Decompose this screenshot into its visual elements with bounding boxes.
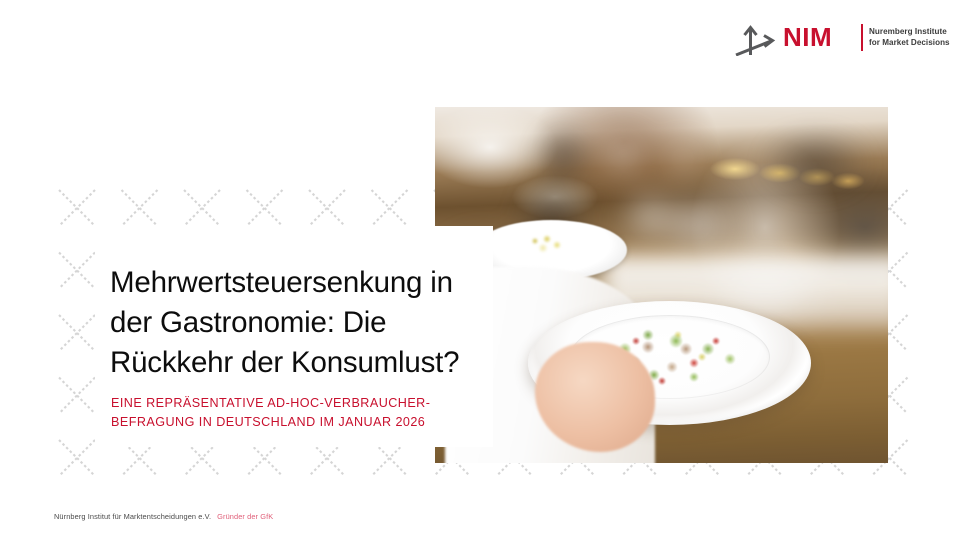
crossing-arrows-icon [733, 22, 781, 56]
nim-logo: NIM Nuremberg Institute for Market Decis… [733, 22, 913, 56]
page-subtitle: EINE REPRÄSENTATIVE AD-HOC-VERBRAUCHER- … [111, 394, 491, 431]
page-title-line-1: Mehrwertsteuersenkung in [110, 263, 490, 303]
page-subtitle-line-2: BEFRAGUNG IN DEUTSCHLAND IM JANUAR 2026 [111, 413, 491, 432]
title-slide: Mehrwertsteuersenkung in der Gastronomie… [0, 0, 960, 540]
nim-tagline: Nuremberg Institute for Market Decisions [869, 26, 950, 48]
hero-photo [435, 107, 888, 463]
footer: Nürnberg Institut für Marktentscheidunge… [54, 512, 273, 521]
logo-divider [861, 24, 863, 51]
footer-accent-note: Gründer der GfK [217, 512, 273, 521]
page-title-line-2: der Gastronomie: Die [110, 303, 490, 343]
nim-tagline-line-1: Nuremberg Institute [869, 26, 950, 37]
page-title-line-3: Rückkehr der Konsumlust? [110, 343, 490, 383]
nim-tagline-line-2: for Market Decisions [869, 37, 950, 48]
page-subtitle-line-1: EINE REPRÄSENTATIVE AD-HOC-VERBRAUCHER- [111, 394, 491, 413]
nim-wordmark: NIM [783, 22, 832, 52]
photo-background-plate-food [527, 233, 569, 255]
page-title: Mehrwertsteuersenkung in der Gastronomie… [110, 263, 490, 383]
footer-organisation: Nürnberg Institut für Marktentscheidunge… [54, 512, 211, 521]
